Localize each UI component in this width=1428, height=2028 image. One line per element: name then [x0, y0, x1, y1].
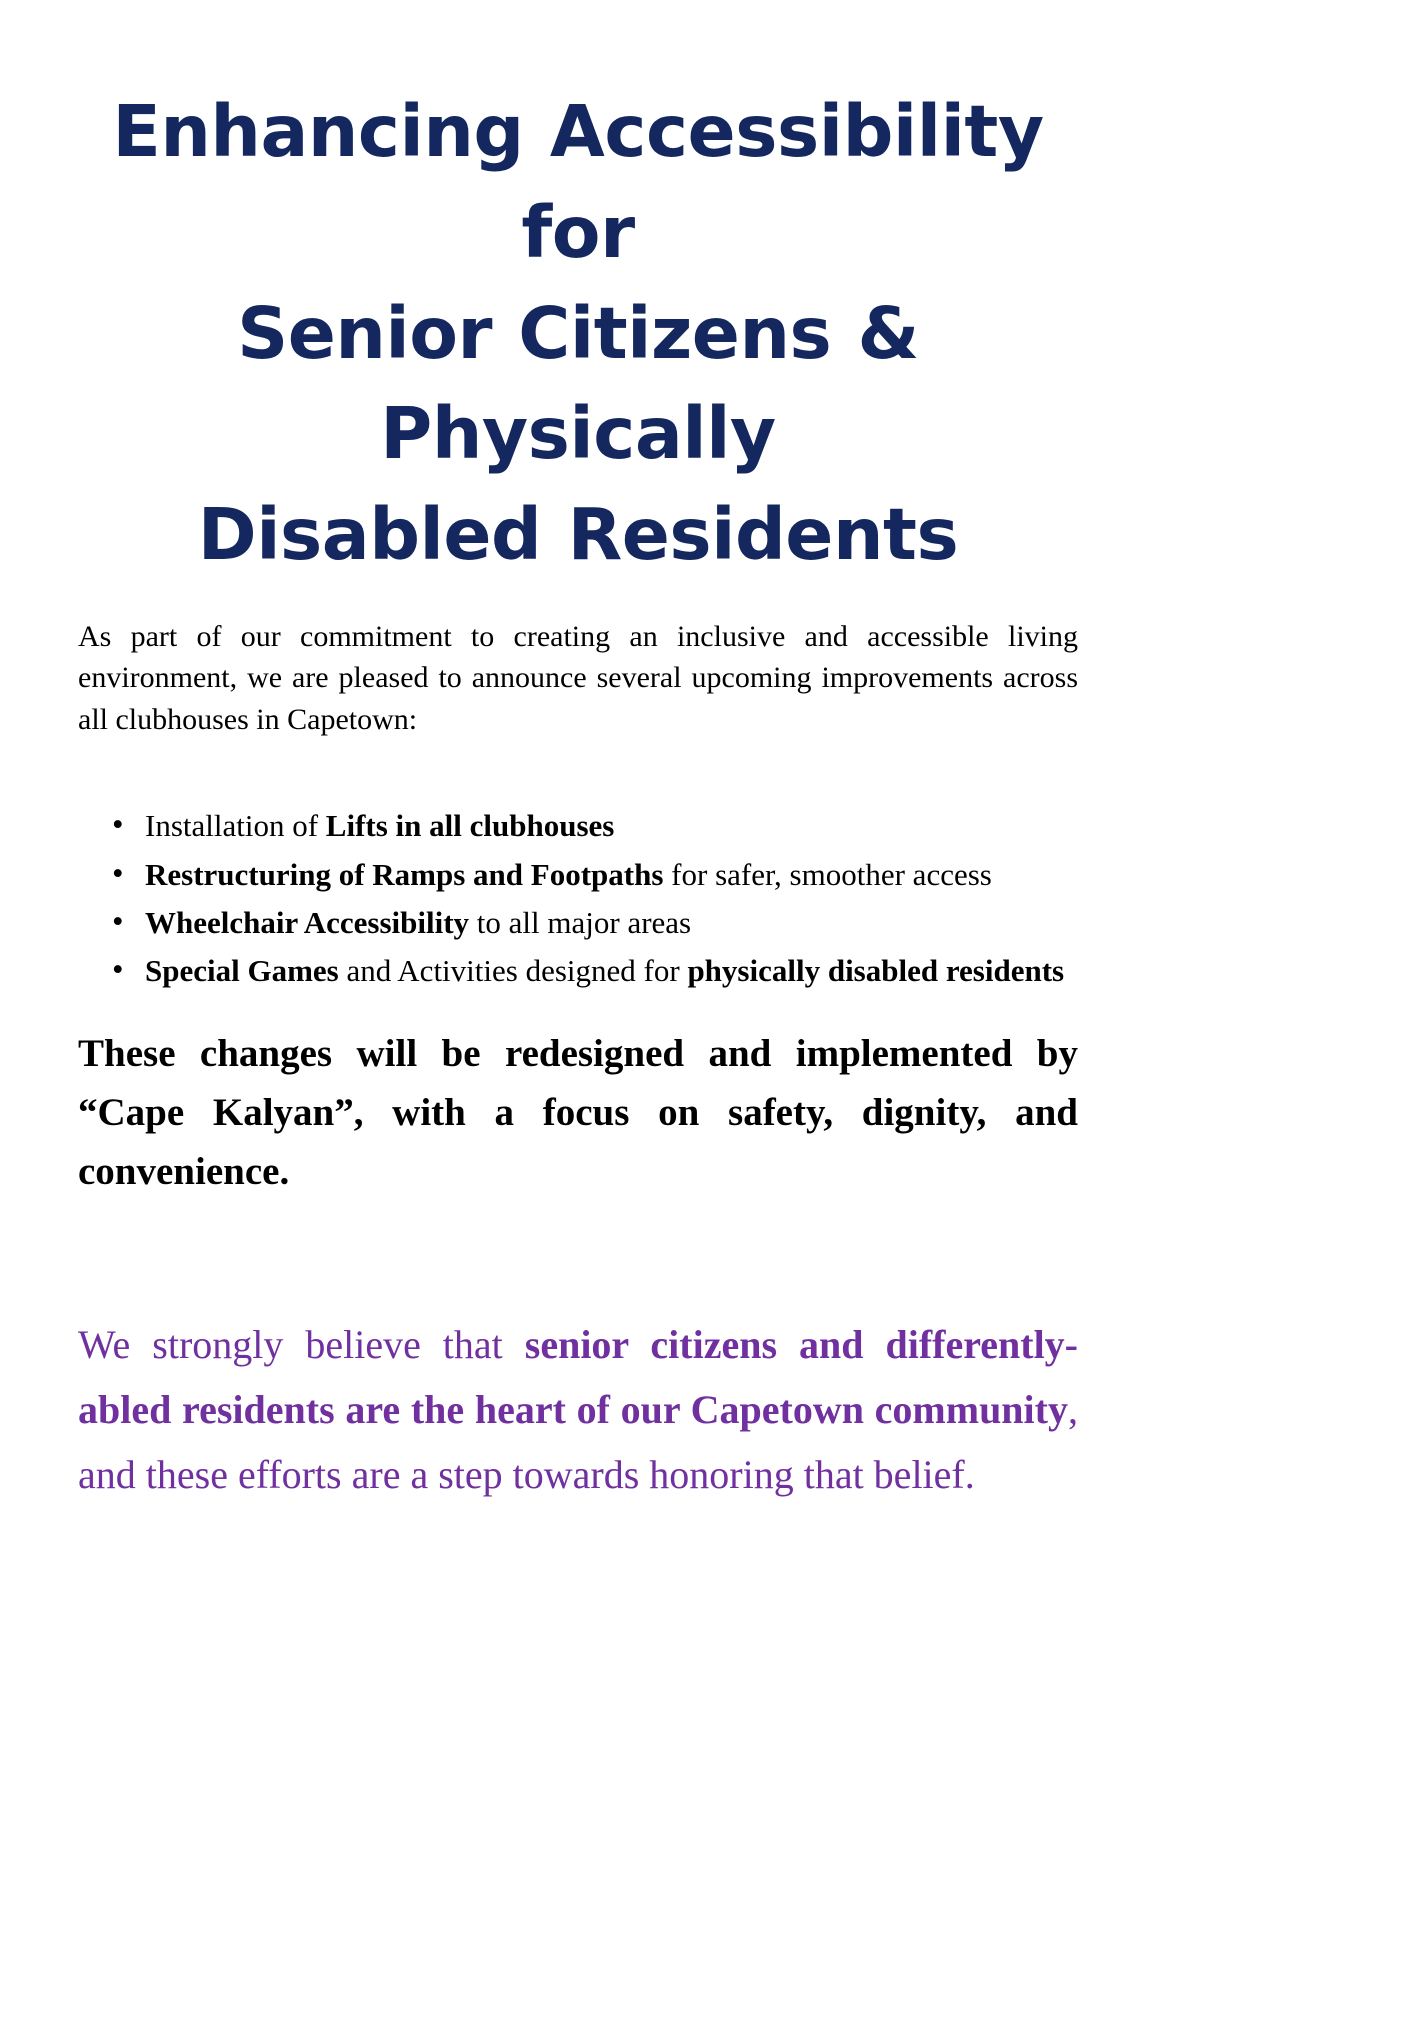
page-title-line-3: Disabled Residents [78, 485, 1078, 586]
statement-paragraph: These changes will be redesigned and imp… [78, 996, 1078, 1202]
list-item: Installation of Lifts in all clubhouses [78, 802, 1078, 850]
intro-paragraph: As part of our commitment to creating an… [78, 586, 1078, 740]
emphasis-text: Wheelchair Accessibility [145, 905, 469, 940]
plain-text: Installation of [145, 808, 326, 843]
list-item: Restructuring of Ramps and Footpaths for… [78, 851, 1078, 899]
page-title-line-2: Senior Citizens & Physically [78, 284, 1078, 486]
document-page: Enhancing Accessibility for Senior Citiz… [0, 0, 1428, 2028]
closing-paragraph: We strongly believe that senior citizens… [78, 1201, 1078, 1507]
plain-text: and Activities designed for [339, 953, 688, 988]
emphasis-text: Restructuring of Ramps and Footpaths [145, 857, 663, 892]
emphasis-text: physically disabled residents [687, 953, 1064, 988]
emphasis-text: Lifts in all clubhouses [326, 808, 615, 843]
plain-text: for safer, smoother access [663, 857, 991, 892]
list-item: Special Games and Activities designed fo… [78, 947, 1078, 995]
improvements-list: Installation of Lifts in all clubhouses … [78, 740, 1078, 995]
plain-text: to all major areas [469, 905, 691, 940]
page-title: Enhancing Accessibility for Senior Citiz… [78, 0, 1078, 586]
plain-text: We strongly believe that [78, 1322, 525, 1367]
page-title-line-1: Enhancing Accessibility for [78, 82, 1078, 284]
emphasis-text: Special Games [145, 953, 339, 988]
list-item: Wheelchair Accessibility to all major ar… [78, 899, 1078, 947]
document-content: Enhancing Accessibility for Senior Citiz… [78, 0, 1078, 1508]
